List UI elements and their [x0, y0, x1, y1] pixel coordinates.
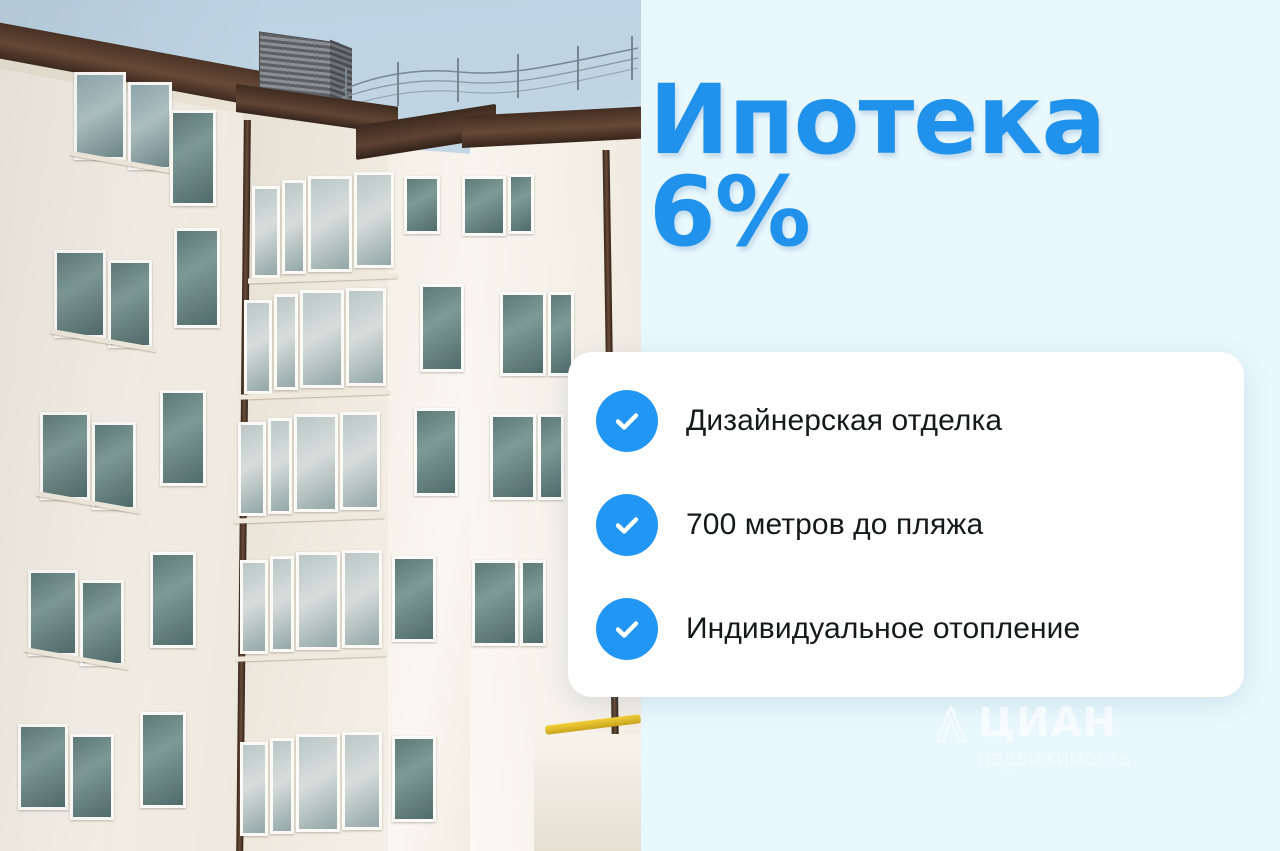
- building-photo: [0, 0, 641, 851]
- window-bay: [342, 550, 382, 648]
- window: [420, 284, 464, 372]
- feature-label: 700 метров до пляжа: [686, 507, 983, 543]
- window-bay: [296, 734, 340, 832]
- promo-banner: Ипотека 6% Дизайнерская отделка 700 метр…: [0, 0, 1280, 851]
- window-bay: [342, 732, 382, 830]
- window-bay: [308, 176, 352, 272]
- window: [414, 408, 458, 496]
- parapet-wall: [534, 734, 641, 851]
- window-bay: [244, 300, 272, 394]
- window: [108, 260, 152, 348]
- window: [500, 292, 546, 376]
- window-bay: [252, 186, 280, 278]
- feature-item-3: Индивидуальное отопление: [582, 577, 1244, 681]
- window: [462, 176, 506, 236]
- window: [74, 72, 126, 160]
- window: [140, 712, 186, 808]
- window: [174, 228, 220, 328]
- window: [472, 560, 518, 646]
- feature-item-2: 700 метров до пляжа: [582, 473, 1244, 577]
- feature-item-1: Дизайнерская отделка: [582, 369, 1244, 473]
- window: [508, 174, 534, 234]
- window-bay: [354, 172, 394, 268]
- window-bay: [282, 180, 306, 274]
- window: [80, 580, 124, 666]
- window-bay: [240, 742, 268, 836]
- check-circle-icon: [596, 598, 658, 660]
- window: [392, 556, 436, 642]
- window: [128, 82, 172, 170]
- promo-headline: Ипотека 6%: [649, 74, 1269, 258]
- window-bay: [270, 738, 294, 834]
- window: [92, 422, 136, 510]
- feature-label: Индивидуальное отопление: [686, 611, 1080, 647]
- window-bay: [294, 414, 338, 512]
- check-circle-icon: [596, 390, 658, 452]
- window-bay: [300, 290, 344, 388]
- window: [404, 176, 440, 234]
- window-bay: [268, 418, 292, 514]
- window: [150, 552, 196, 648]
- window: [520, 560, 546, 646]
- window-bay: [274, 294, 298, 390]
- window: [160, 390, 206, 486]
- window-bay: [296, 552, 340, 650]
- window: [28, 570, 78, 656]
- check-circle-icon: [596, 494, 658, 556]
- window: [170, 110, 216, 206]
- features-card: Дизайнерская отделка 700 метров до пляжа…: [568, 352, 1244, 697]
- window-bay: [240, 560, 268, 654]
- window: [490, 414, 536, 500]
- window-bay: [346, 288, 386, 386]
- window: [70, 734, 114, 820]
- window-bay: [270, 556, 294, 652]
- feature-label: Дизайнерская отделка: [686, 403, 1002, 439]
- window: [54, 250, 106, 338]
- window: [538, 414, 564, 500]
- window: [392, 736, 436, 822]
- window-bay: [238, 422, 266, 516]
- window-bay: [340, 412, 380, 510]
- window: [18, 724, 68, 810]
- window: [40, 412, 90, 500]
